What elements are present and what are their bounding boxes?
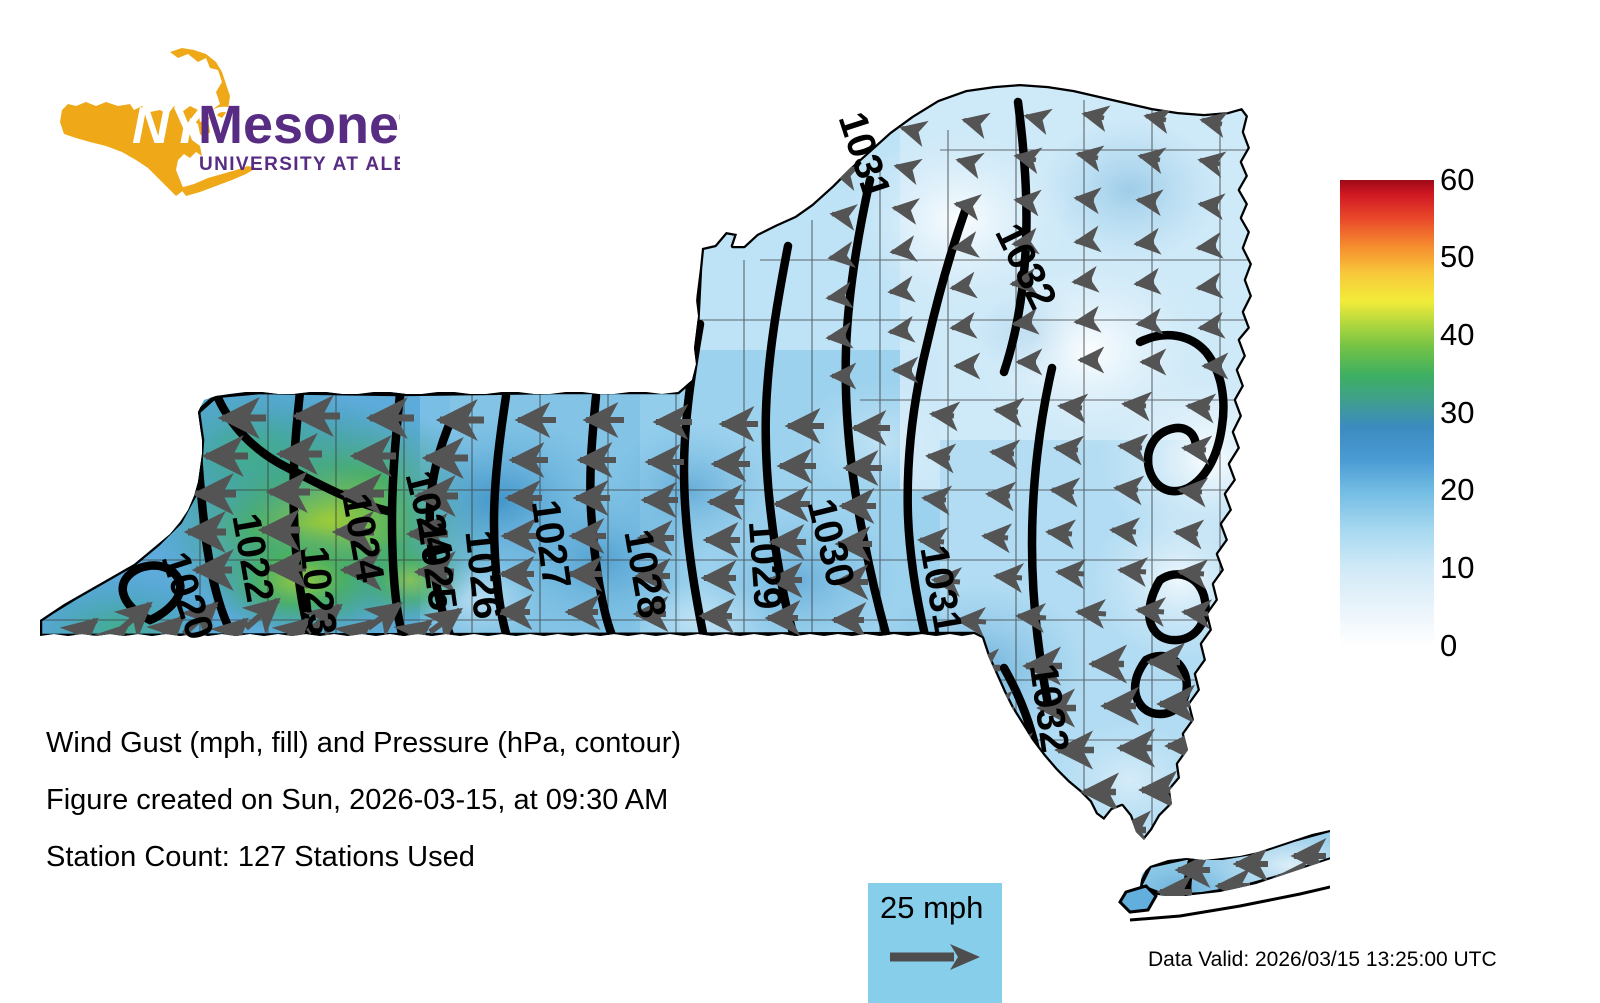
wind-barb-legend: 25 mph: [868, 883, 1002, 1003]
colorbar-tick-0: 0: [1440, 630, 1457, 661]
contour-label-1023: 1023: [291, 544, 344, 637]
contour-label-1026: 1026: [456, 528, 509, 621]
caption-created: Figure created on Sun, 2026-03-15, at 09…: [46, 772, 826, 829]
colorbar-tick-60: 60: [1440, 164, 1474, 195]
caption-title: Wind Gust (mph, fill) and Pressure (hPa,…: [46, 715, 826, 772]
figure-caption: Wind Gust (mph, fill) and Pressure (hPa,…: [46, 715, 826, 886]
wind-legend-label: 25 mph: [880, 891, 983, 925]
wind-gust-colorbar: 60 50 40 30 20 10 0: [1340, 180, 1434, 646]
colorbar-tick-10: 10: [1440, 552, 1474, 583]
figure-canvas: NYS Mesonet UNIVERSITY AT ALBANY: [0, 0, 1600, 1000]
contour-label-1029: 1029: [740, 519, 790, 611]
colorbar-tick-20: 20: [1440, 474, 1474, 505]
colorbar-tick-50: 50: [1440, 241, 1474, 272]
colorbar-tick-labels: 60 50 40 30 20 10 0: [1440, 160, 1530, 666]
caption-station-count: Station Count: 127 Stations Used: [46, 829, 826, 886]
wind-legend-arrow-icon: [888, 940, 984, 974]
staten-island: [1120, 886, 1156, 912]
colorbar-tick-30: 30: [1440, 397, 1474, 428]
colorbar-tick-40: 40: [1440, 319, 1474, 350]
data-valid-timestamp: Data Valid: 2026/03/15 13:25:00 UTC: [1148, 948, 1497, 972]
colorbar-gradient: [1340, 180, 1434, 646]
